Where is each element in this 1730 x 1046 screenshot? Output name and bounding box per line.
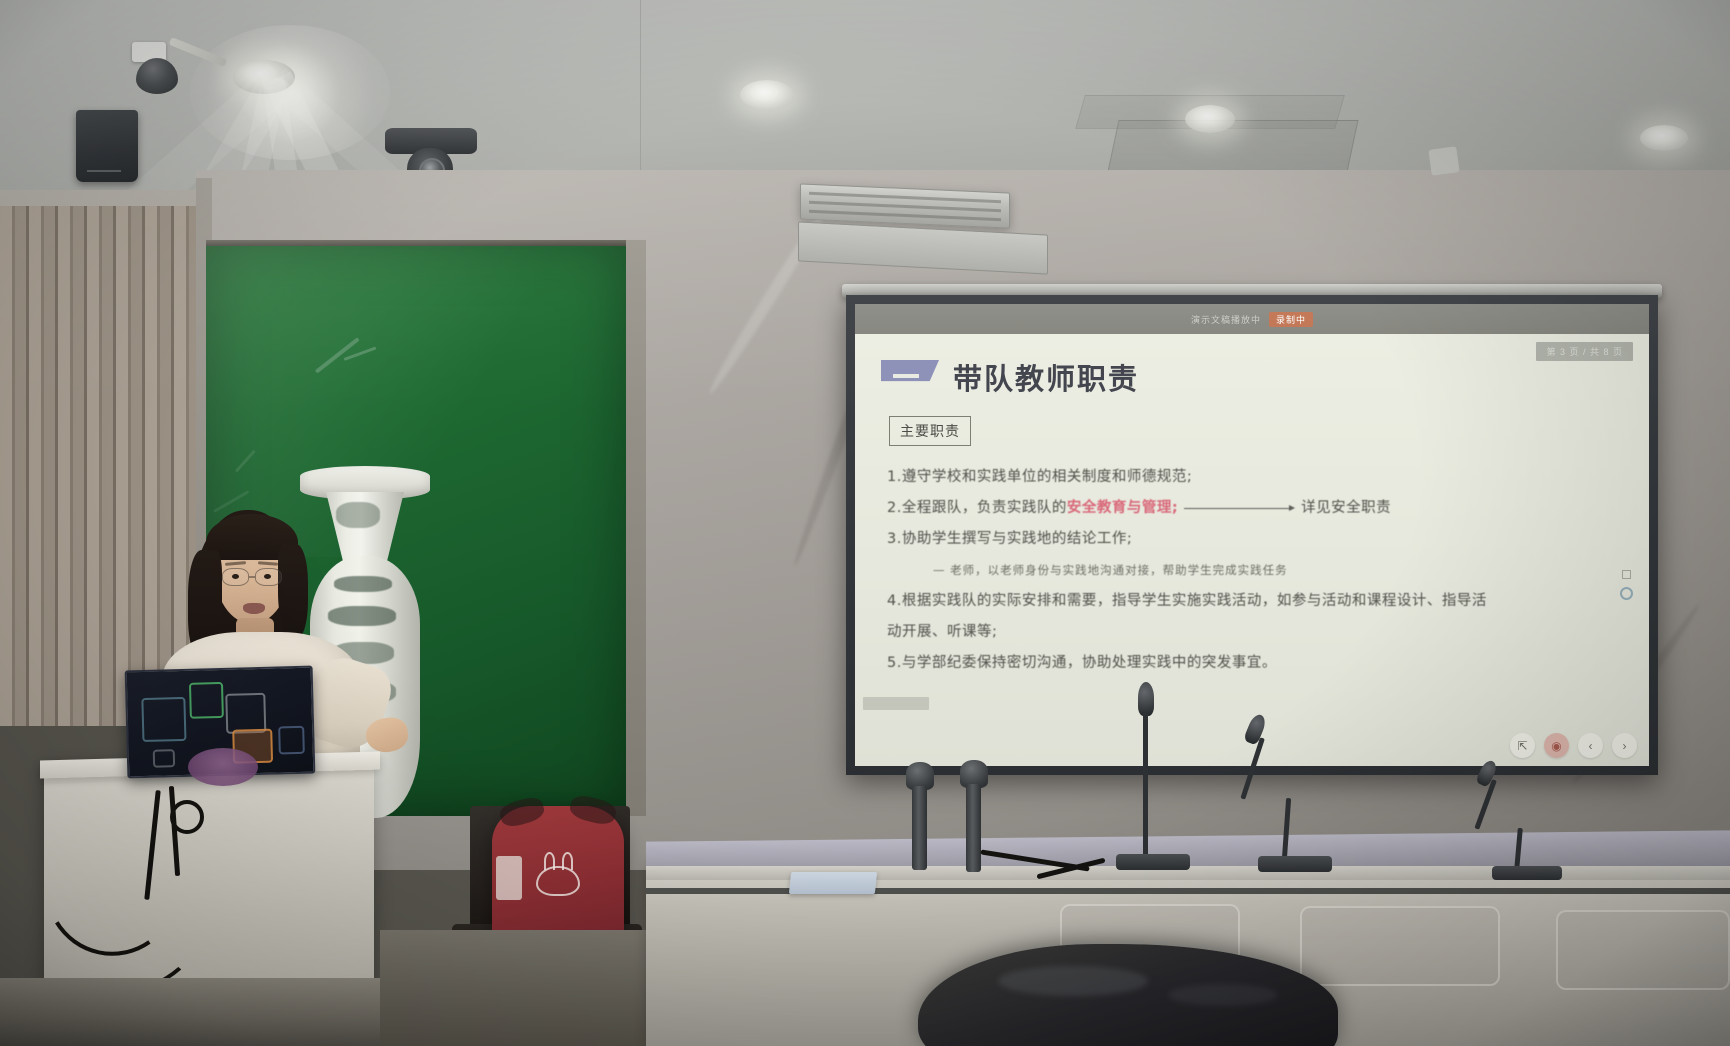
topbar-recording-badge: 录制中: [1269, 312, 1313, 327]
slide-line-4b: 动开展、听课等;: [887, 617, 1623, 648]
title-flag-icon: [881, 360, 939, 394]
slide-line-3-sub: — 老师，以老师身份与实践地沟通对接，帮助学生完成实践任务: [933, 555, 1623, 586]
recessed-light: [1640, 125, 1688, 151]
ceiling-fixture: [1428, 146, 1459, 176]
wall-speaker: [76, 110, 138, 182]
rabbit-ear-icon: [562, 852, 573, 870]
chevron-right-icon[interactable]: ›: [1612, 733, 1637, 758]
slide-arrow-icon: [1184, 505, 1295, 511]
record-icon[interactable]: ◉: [1544, 733, 1569, 758]
slide-left-chip: [863, 697, 929, 710]
expand-icon[interactable]: ⇱: [1510, 733, 1535, 758]
presenter-mouth: [243, 603, 265, 614]
slide-side-markers: [1620, 570, 1633, 600]
recessed-light: [740, 80, 794, 110]
cable-coil: [170, 800, 204, 834]
slide-canvas: 第 3 页 / 共 8 页 带队教师职责 主要职责 1.遵守学校和实践单位的相关…: [855, 334, 1649, 766]
photo-scene: 演示文稿播放中 录制中 第 3 页 / 共 8 页 带队教师职责 主要职责 1.…: [0, 0, 1730, 1046]
slide-line-2-highlight: 安全教育与管理;: [1067, 500, 1178, 516]
chevron-left-icon[interactable]: ‹: [1578, 733, 1603, 758]
presenter-glasses-bridge: [249, 576, 255, 578]
slide-body: 1.遵守学校和实践单位的相关制度和师德规范; 2.全程跟队，负责实践队的安全教育…: [887, 462, 1623, 679]
projection-screen-surface: 演示文稿播放中 录制中 第 3 页 / 共 8 页 带队教师职责 主要职责 1.…: [855, 304, 1649, 766]
slide-title-row: 带队教师职责: [881, 356, 1623, 398]
table-front-panel: [1556, 910, 1730, 990]
slide-line-1: 1.遵守学校和实践单位的相关制度和师德规范;: [887, 462, 1623, 493]
slide-line-2-prefix: 2.全程跟队，负责实践队的: [887, 500, 1067, 516]
projection-screen-frame: 演示文稿播放中 录制中 第 3 页 / 共 8 页 带队教师职责 主要职责 1.…: [846, 295, 1658, 775]
gooseneck-microphone-1: [1110, 682, 1200, 876]
presenter-eye: [264, 574, 271, 579]
slide-section-tag: 主要职责: [889, 416, 971, 446]
topbar-status-text: 演示文稿播放中: [1191, 313, 1261, 326]
slide-navigation-controls[interactable]: ⇱ ◉ ‹ ›: [1510, 733, 1637, 758]
gooseneck-microphone-2: [1238, 714, 1348, 878]
slide-line-2-target: 详见安全职责: [1301, 500, 1391, 516]
presenter-hair-lock: [278, 544, 308, 640]
rabbit-face-icon: [536, 866, 580, 896]
podium-object: [188, 748, 258, 786]
presentation-topbar: 演示文稿播放中 录制中: [855, 304, 1649, 334]
dome-camera-left: [126, 42, 192, 102]
ceiling-seam: [640, 0, 641, 175]
table-front-panel: [1300, 906, 1500, 986]
paper-stack: [789, 872, 877, 894]
backpack-side-pocket: [496, 856, 522, 900]
recessed-light: [1185, 105, 1235, 133]
slide-marker-circle-icon: [1620, 587, 1633, 600]
spotlight-main: [233, 60, 295, 94]
slide-line-2: 2.全程跟队，负责实践队的安全教育与管理;详见安全职责: [887, 493, 1623, 524]
slide-marker-square-icon: [1622, 570, 1631, 579]
slide-line-5: 5.与学部纪委保持密切沟通，协助处理实践中的突发事宜。: [887, 648, 1623, 679]
slide-page-badge: 第 3 页 / 共 8 页: [1536, 342, 1633, 361]
handheld-microphone-1: [902, 762, 942, 872]
handheld-microphone-2: [956, 760, 996, 874]
gooseneck-microphone-3: [1472, 760, 1582, 890]
floor: [380, 930, 680, 1046]
slide-title: 带队教师职责: [953, 356, 1139, 398]
slide-line-3: 3.协助学生撰写与实践地的结论工作;: [887, 524, 1623, 555]
slide-line-4a: 4.根据实践队的实际安排和需要，指导学生实施实践活动，如参与活动和课程设计、指导…: [887, 586, 1623, 617]
presenter-eye: [232, 574, 239, 579]
rabbit-ear-icon: [544, 852, 555, 870]
board-right-edge: [626, 240, 646, 816]
